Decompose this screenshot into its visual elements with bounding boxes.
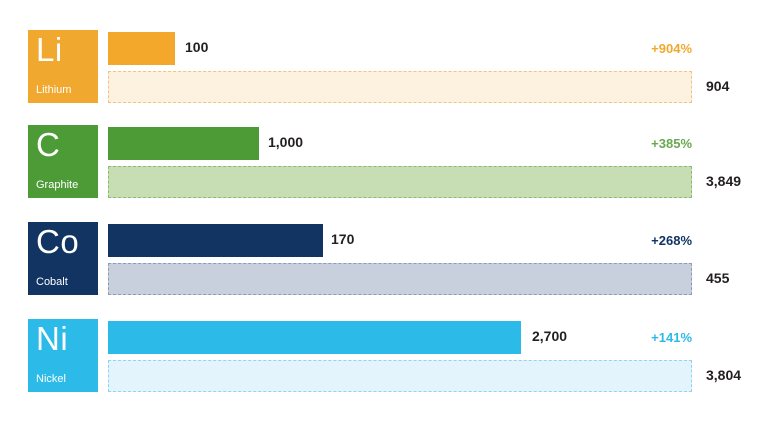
value-label-current: 100 <box>185 39 208 55</box>
value-label-current: 1,000 <box>268 134 303 150</box>
element-name: Graphite <box>36 179 78 191</box>
element-tile-nickel: NiNickel <box>28 319 98 392</box>
bar-projected-cobalt <box>108 263 692 295</box>
chart-row-cobalt: CoCobalt170455+268% <box>0 222 768 295</box>
growth-percent-label: +141% <box>651 330 692 345</box>
element-symbol: C <box>36 126 60 164</box>
growth-percent-label: +385% <box>651 136 692 151</box>
bar-projected-nickel <box>108 360 692 392</box>
bar-projected-lithium <box>108 71 692 103</box>
value-label-projected: 3,804 <box>706 367 741 383</box>
chart-row-graphite: CGraphite1,0003,849+385% <box>0 125 768 198</box>
value-label-current: 2,700 <box>532 328 567 344</box>
element-name: Lithium <box>36 84 71 96</box>
bar-current-lithium <box>108 32 175 65</box>
element-symbol: Co <box>36 223 79 261</box>
element-tile-cobalt: CoCobalt <box>28 222 98 295</box>
chart-row-nickel: NiNickel2,7003,804+141% <box>0 319 768 392</box>
chart-row-lithium: LiLithium100904+904% <box>0 30 768 103</box>
battery-metals-demand-chart: LiLithium100904+904%CGraphite1,0003,849+… <box>0 0 768 428</box>
element-tile-lithium: LiLithium <box>28 30 98 103</box>
element-name: Cobalt <box>36 276 68 288</box>
bar-current-graphite <box>108 127 259 160</box>
value-label-current: 170 <box>331 231 354 247</box>
value-label-projected: 455 <box>706 270 729 286</box>
value-label-projected: 3,849 <box>706 173 741 189</box>
bar-current-nickel <box>108 321 521 354</box>
element-symbol: Li <box>36 31 63 69</box>
bar-projected-graphite <box>108 166 692 198</box>
element-tile-graphite: CGraphite <box>28 125 98 198</box>
bar-current-cobalt <box>108 224 323 257</box>
growth-percent-label: +268% <box>651 233 692 248</box>
value-label-projected: 904 <box>706 78 729 94</box>
element-name: Nickel <box>36 373 66 385</box>
element-symbol: Ni <box>36 320 68 358</box>
growth-percent-label: +904% <box>651 41 692 56</box>
